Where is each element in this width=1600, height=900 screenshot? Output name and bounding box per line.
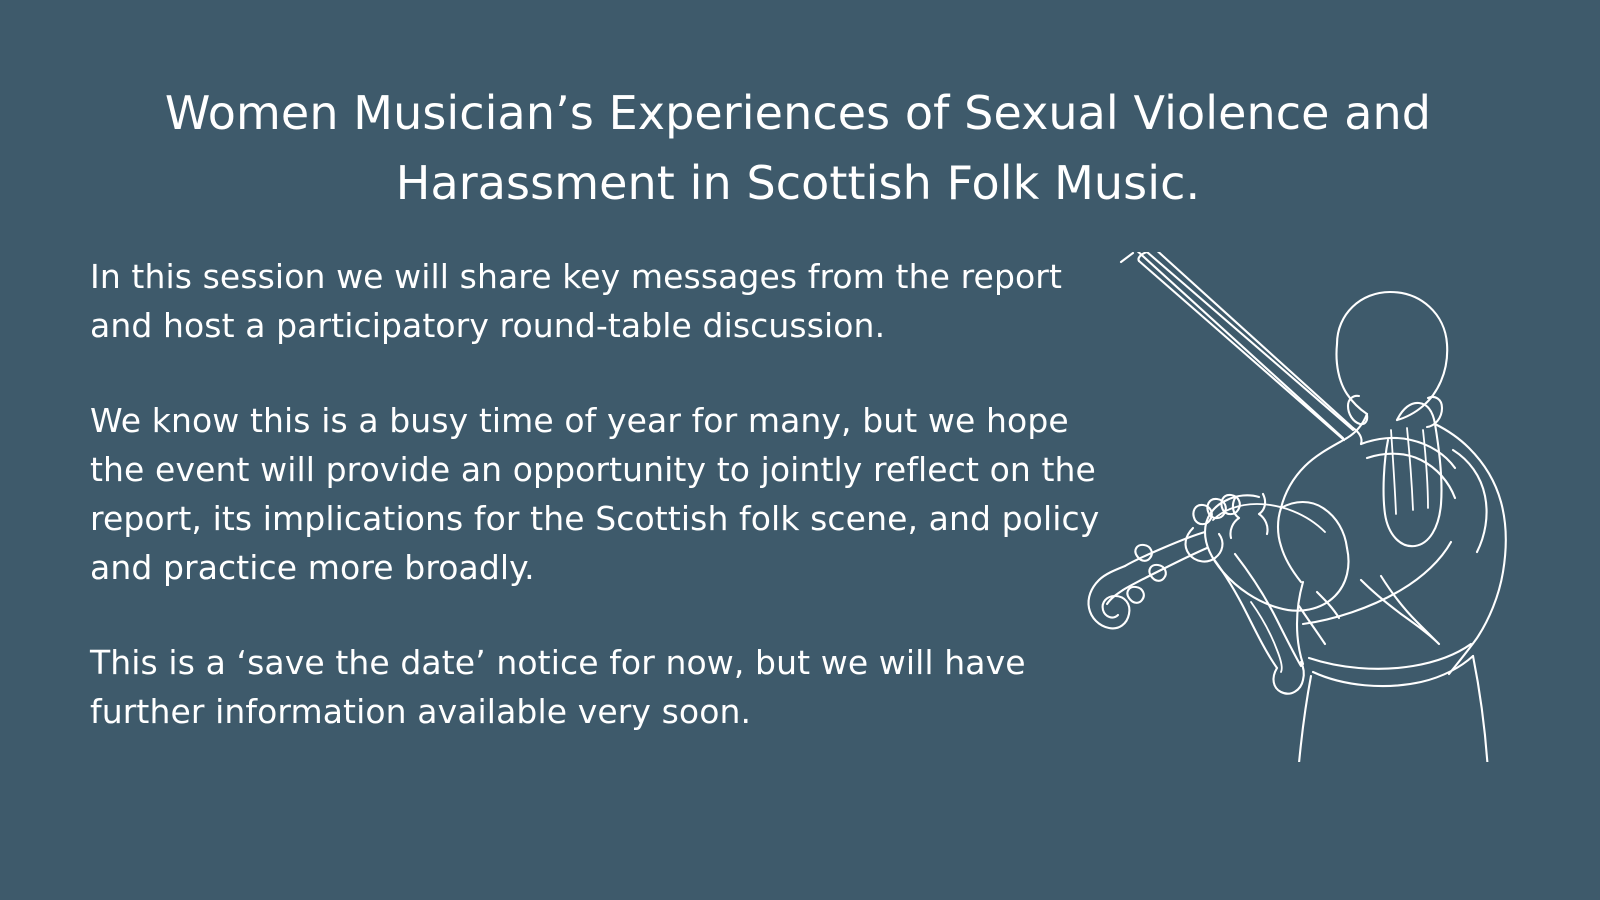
presentation-slide: Women Musician’s Experiences of Sexual V… (0, 0, 1600, 900)
title-block: Women Musician’s Experiences of Sexual V… (92, 78, 1504, 218)
body-paragraph-1: In this session we will share key messag… (90, 252, 1110, 350)
body-paragraph-2: We know this is a busy time of year for … (90, 396, 1110, 592)
body-copy-block: In this session we will share key messag… (90, 252, 1110, 736)
body-paragraph-3: This is a ‘save the date’ notice for now… (90, 638, 1110, 736)
page-title: Women Musician’s Experiences of Sexual V… (92, 78, 1504, 218)
violinist-line-art-icon (1085, 252, 1545, 762)
